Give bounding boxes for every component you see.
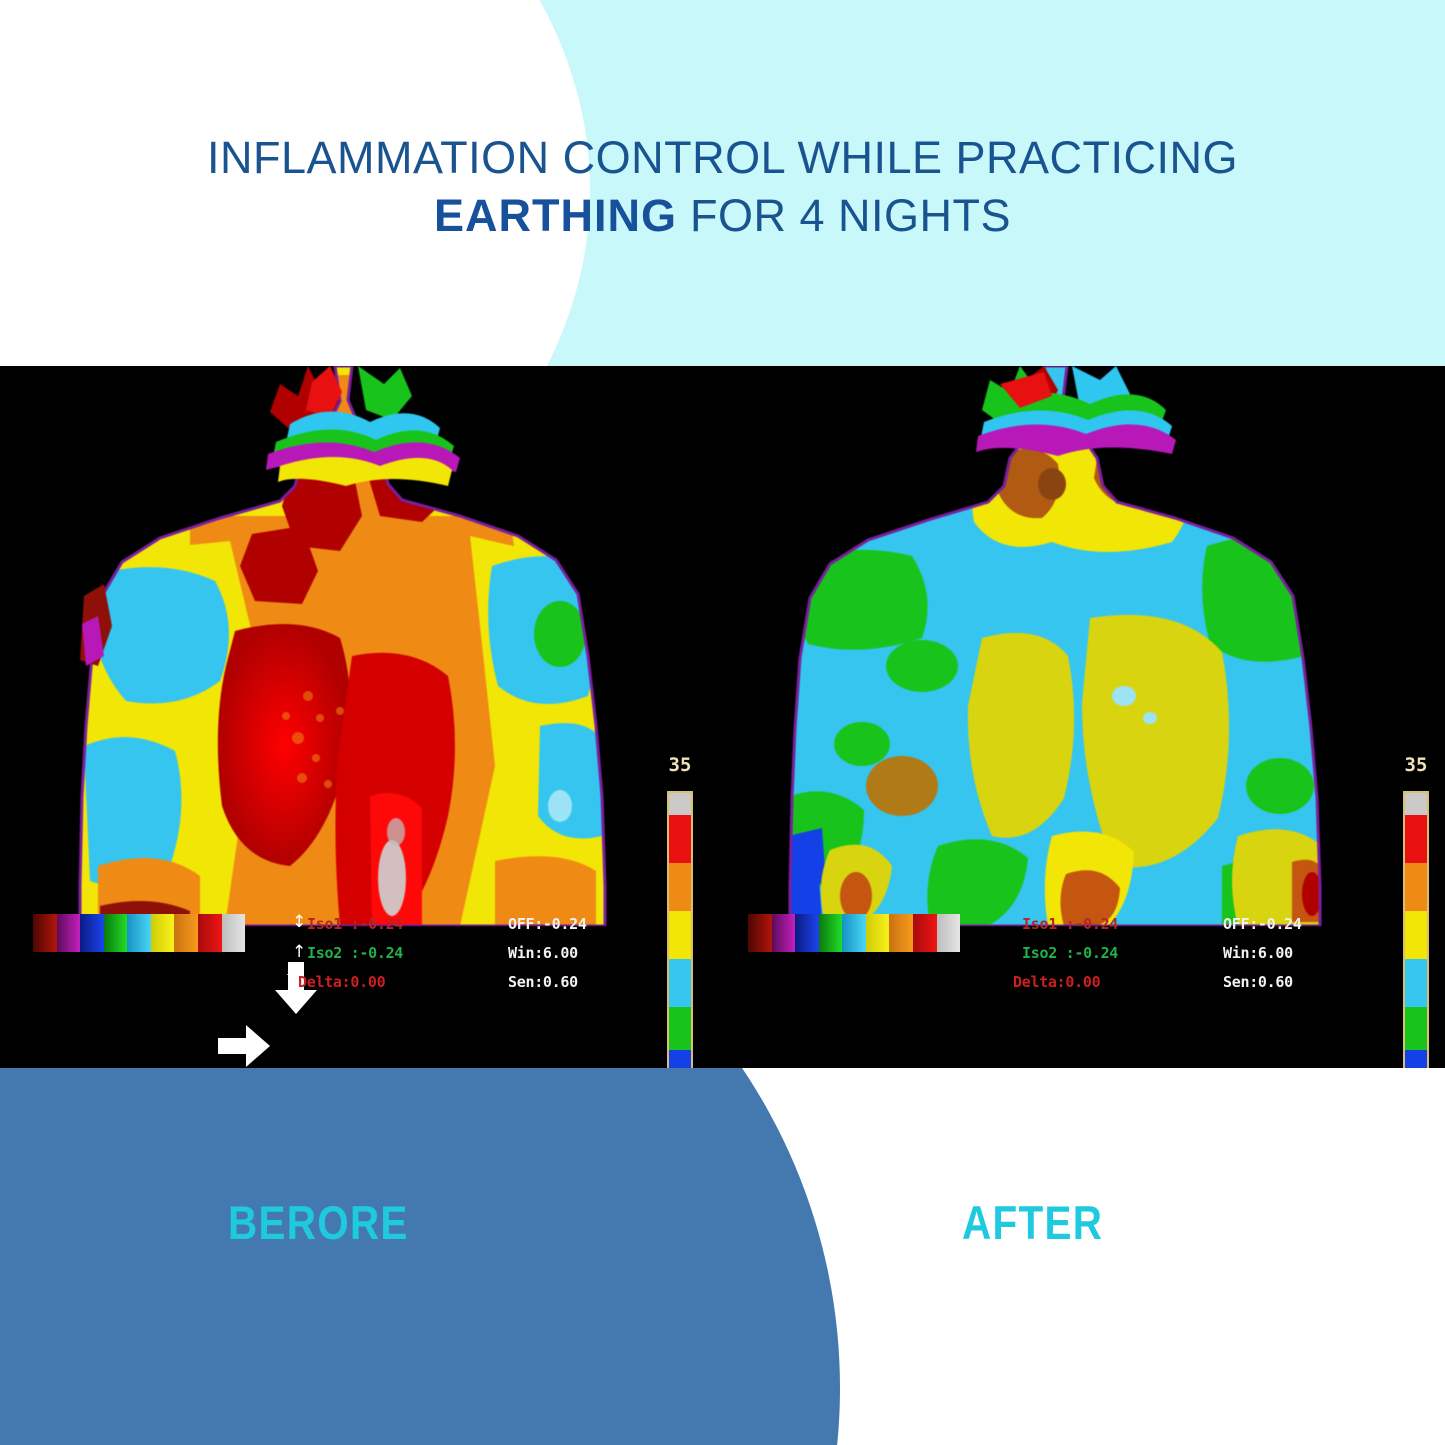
- readout-iso1-after: Iso1 :-0.24: [1022, 915, 1118, 933]
- readout-delta-before: Delta:0.00: [298, 973, 385, 991]
- palette-swatch: [795, 914, 819, 952]
- neck-fringe-before: [266, 366, 460, 486]
- thermal-body-image-after: [752, 366, 1392, 926]
- scale-band: [669, 815, 691, 863]
- neck-fringe-after: [976, 366, 1176, 456]
- footer-blue-curve: [0, 1068, 840, 1445]
- palette-swatch: [866, 914, 890, 952]
- footer-section: [0, 1068, 1445, 1445]
- palette-swatch: [819, 914, 843, 952]
- scale-band: [669, 793, 691, 815]
- palette-swatch: [748, 914, 772, 952]
- arrow-right-marker-icon: [216, 1022, 272, 1068]
- scale-band: [1405, 911, 1427, 959]
- scale-band: [1405, 815, 1427, 863]
- thermal-body-image-before: [40, 366, 680, 926]
- scale-band: [1405, 1050, 1427, 1068]
- palette-swatch: [772, 914, 796, 952]
- scale-band: [669, 1050, 691, 1068]
- scale-band: [669, 863, 691, 911]
- thermogram-panel-after: 35 29 °C: [722, 366, 1445, 1068]
- palette-swatch: [842, 914, 866, 952]
- temperature-scale-before: [667, 791, 693, 1068]
- palette-swatch: [57, 914, 81, 952]
- palette-swatch: [80, 914, 104, 952]
- readout-off-before: OFF:-0.24: [508, 915, 587, 933]
- readout-win-before: Win:6.00: [508, 944, 578, 962]
- palette-swatch: [198, 914, 222, 952]
- caption-after: AFTER: [962, 1195, 1103, 1250]
- page-title-line-2: EARTHING FOR 4 NIGHTS: [434, 187, 1011, 245]
- title-line-2-suffix: FOR 4 NIGHTS: [677, 190, 1011, 241]
- iso2-marker-icon: ↑: [292, 942, 306, 962]
- scale-band: [1405, 959, 1427, 1007]
- thermogram-band: 35 29 °C: [0, 366, 1445, 1068]
- scale-band: [669, 959, 691, 1007]
- readout-iso2-after: Iso2 :-0.24: [1022, 944, 1118, 962]
- temperature-scale-after: [1403, 791, 1429, 1068]
- palette-swatch: [937, 914, 961, 952]
- palette-swatch: [913, 914, 937, 952]
- title-block: INFLAMMATION CONTROL WHILE PRACTICING EA…: [0, 0, 1445, 366]
- palette-swatch: [151, 914, 175, 952]
- readout-sen-after: Sen:0.60: [1223, 973, 1293, 991]
- palette-swatch: [104, 914, 128, 952]
- delta-marker-icon: ^: [285, 968, 299, 988]
- palette-swatch: [33, 914, 57, 952]
- scale-max-label-before: 35: [655, 754, 705, 776]
- palette-bar-before: [33, 914, 245, 952]
- scale-band: [1405, 863, 1427, 911]
- palette-swatch: [889, 914, 913, 952]
- scale-band: [1405, 1007, 1427, 1051]
- readout-iso2-before: Iso2 :-0.24: [307, 944, 403, 962]
- readout-iso1-before: Iso1 :-0.24: [307, 915, 403, 933]
- palette-bar-after: [748, 914, 960, 952]
- palette-swatch: [127, 914, 151, 952]
- palette-swatch: [222, 914, 246, 952]
- iso1-marker-icon: ↕: [292, 912, 306, 932]
- scale-max-label-after: 35: [1391, 754, 1441, 776]
- readout-sen-before: Sen:0.60: [508, 973, 578, 991]
- scale-band: [669, 911, 691, 959]
- scale-band: [1405, 793, 1427, 815]
- infographic-page: INFLAMMATION CONTROL WHILE PRACTICING EA…: [0, 0, 1445, 1445]
- palette-swatch: [174, 914, 198, 952]
- readout-delta-after: Delta:0.00: [1013, 973, 1100, 991]
- page-title-line-1: INFLAMMATION CONTROL WHILE PRACTICING: [207, 129, 1238, 187]
- title-keyword-earthing: EARTHING: [434, 190, 677, 241]
- readout-win-after: Win:6.00: [1223, 944, 1293, 962]
- readout-off-after: OFF:-0.24: [1223, 915, 1302, 933]
- thermogram-panel-before: 35 29 °C: [0, 366, 722, 1068]
- caption-before: BERORE: [228, 1195, 409, 1250]
- header-section: INFLAMMATION CONTROL WHILE PRACTICING EA…: [0, 0, 1445, 366]
- scale-band: [669, 1007, 691, 1051]
